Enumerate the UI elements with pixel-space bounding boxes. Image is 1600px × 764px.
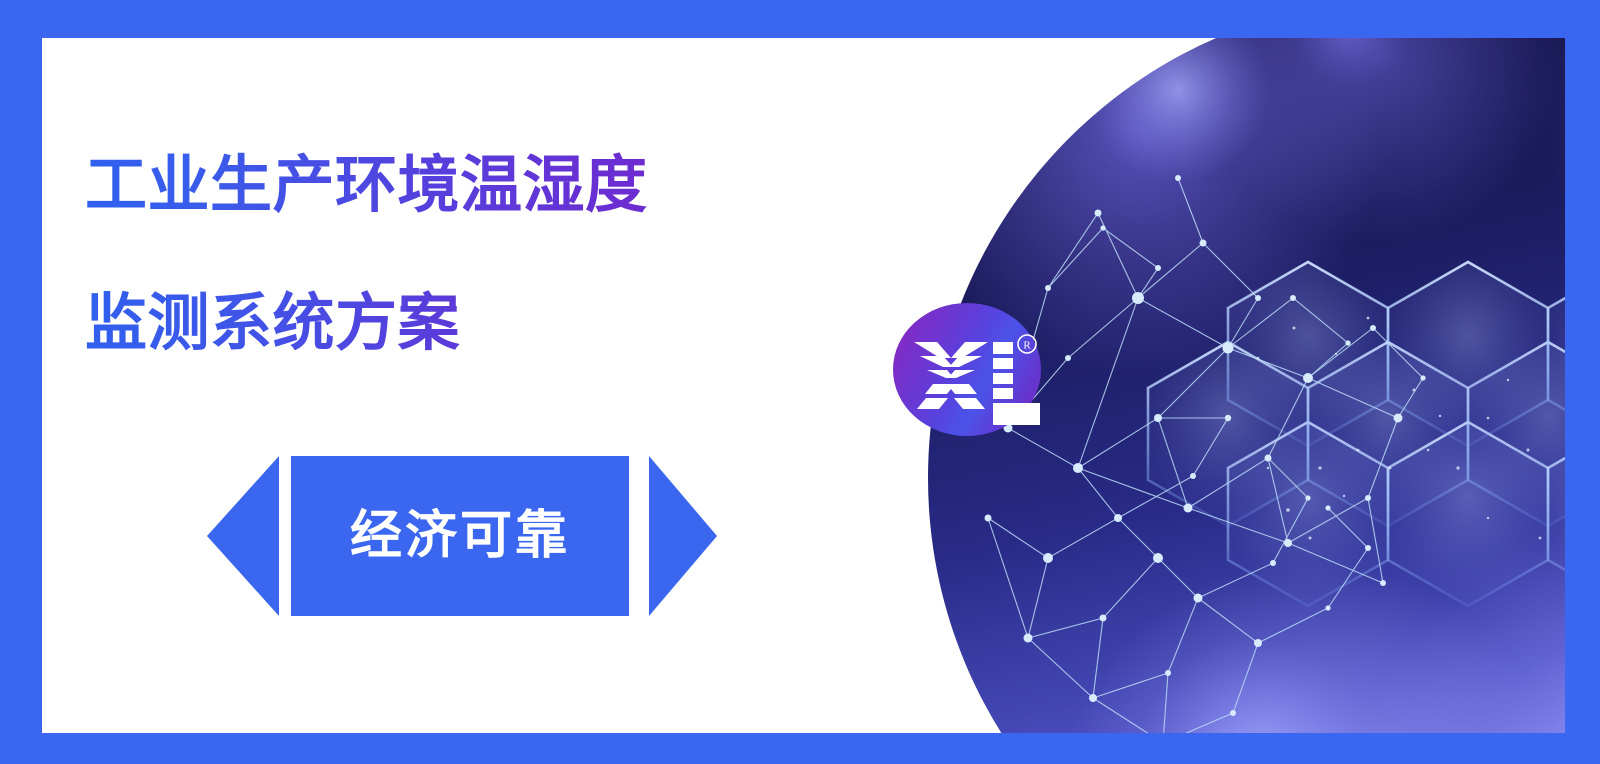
arrow-left-icon: [207, 456, 279, 616]
page-title: 工业生产环境温湿度 监测系统方案: [85, 150, 865, 360]
poster-root: R 工业生产环境温湿度 监测系统方案 经济可靠: [0, 0, 1600, 764]
xl-logo: R: [893, 303, 1041, 436]
tagline-label: 经济可靠: [350, 510, 570, 562]
tagline-plate: 经济可靠: [291, 456, 629, 616]
registered-trademark-icon: R: [1018, 335, 1036, 353]
headline-line-1: 工业生产环境温湿度: [85, 150, 865, 222]
tagline-banner: 经济可靠: [207, 447, 717, 617]
hexagon-lattice: [1148, 262, 1565, 606]
arrow-right-icon: [649, 456, 717, 616]
letter-x-stripes: [914, 342, 988, 409]
white-panel: R 工业生产环境温湿度 监测系统方案 经济可靠: [42, 38, 1565, 733]
headline-line-2: 监测系统方案: [85, 288, 865, 360]
xl-wordmark-icon: R: [893, 303, 1041, 436]
letter-l-stripes: [993, 342, 1040, 425]
svg-text:R: R: [1023, 340, 1031, 352]
